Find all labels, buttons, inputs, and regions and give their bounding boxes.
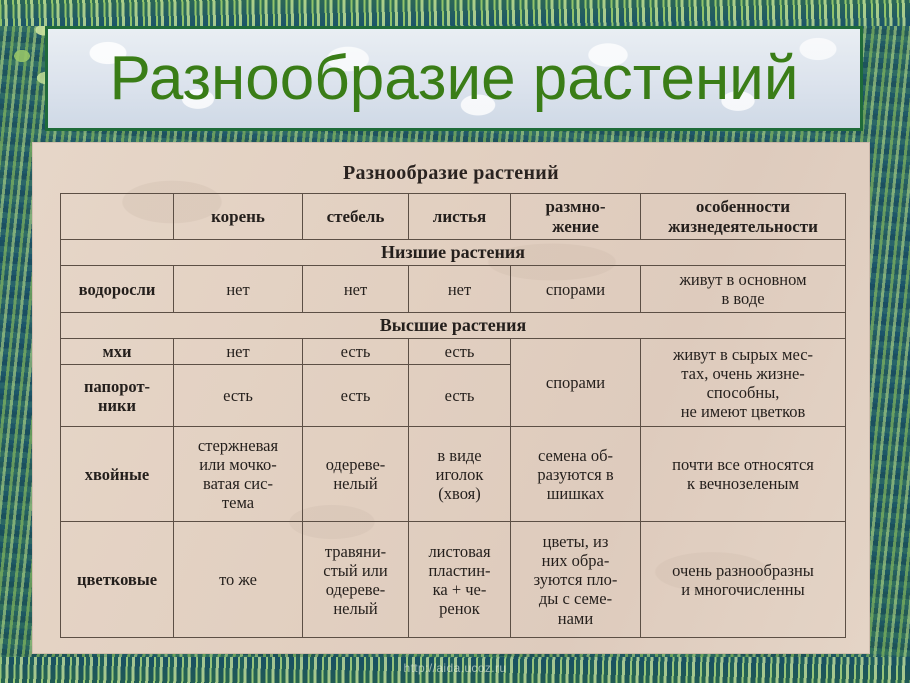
header-reproduction-line1: размно- <box>513 197 638 217</box>
flowering-stem-line3: одереве- <box>305 580 406 599</box>
conifers-leaves-line2: иголок <box>411 465 508 484</box>
cell-flowering-leaves: листовая пластин- ка + че- ренок <box>409 522 511 638</box>
cell-spore-group-features: живут в сырых мес- тах, очень жизне- спо… <box>641 339 846 427</box>
section-label-lower: Низшие растения <box>61 240 846 266</box>
flowering-repro-line2: них обра- <box>513 551 638 570</box>
row-label-conifers: хвойные <box>61 427 174 522</box>
algae-features-line2: в воде <box>643 289 843 308</box>
conifers-leaves-line3: (хвоя) <box>411 484 508 503</box>
table-section-row-lower: Низшие растения <box>61 240 846 266</box>
table-row-mosses: мхи нет есть есть спорами живут в сырых … <box>61 339 846 365</box>
spore-features-line1: живут в сырых мес- <box>643 345 843 364</box>
flowering-leaves-line4: ренок <box>411 599 508 618</box>
slide-title: Разнообразие растений <box>110 48 799 110</box>
table-row-algae: водоросли нет нет нет спорами живут в ос… <box>61 266 846 313</box>
plants-comparison-table: корень стебель листья размно- жение особ… <box>60 193 846 638</box>
cell-conifers-stem: одереве- нелый <box>303 427 409 522</box>
header-cell-leaves: листья <box>409 194 511 240</box>
flowering-leaves-line2: пластин- <box>411 561 508 580</box>
cell-conifers-features: почти все относятся к вечнозеленым <box>641 427 846 522</box>
conifers-root-line3: ватая сис- <box>176 474 300 493</box>
header-cell-stem: стебель <box>303 194 409 240</box>
row-label-ferns: папорот- ники <box>61 365 174 427</box>
cell-algae-reproduction: спорами <box>511 266 641 313</box>
section-label-higher: Высшие растения <box>61 313 846 339</box>
spore-features-line2: тах, очень жизне- <box>643 364 843 383</box>
conifers-root-line2: или мочко- <box>176 455 300 474</box>
table-row-flowering: цветковые то же травяни- стый или одерев… <box>61 522 846 638</box>
header-cell-blank <box>61 194 174 240</box>
cell-mosses-leaves: есть <box>409 339 511 365</box>
header-cell-features: особенности жизнедеятельности <box>641 194 846 240</box>
algae-features-line1: живут в основном <box>643 270 843 289</box>
cell-algae-root: нет <box>174 266 303 313</box>
conifers-stem-line1: одереве- <box>305 455 406 474</box>
cell-conifers-leaves: в виде иголок (хвоя) <box>409 427 511 522</box>
header-reproduction-line2: жение <box>513 217 638 237</box>
slide-root: Разнообразие растений ​ ​ Разнообразие р… <box>0 0 910 683</box>
cell-conifers-reproduction: семена об- разуются в шишках <box>511 427 641 522</box>
conifers-features-line2: к вечнозеленым <box>643 474 843 493</box>
flowering-features-line1: очень разнообразны <box>643 561 843 580</box>
cell-ferns-root: есть <box>174 365 303 427</box>
foliage-frame-top-band <box>0 0 910 26</box>
flowering-leaves-line3: ка + че- <box>411 580 508 599</box>
conifers-leaves-line1: в виде <box>411 446 508 465</box>
header-features-line2: жизнедеятельности <box>643 217 843 237</box>
flowering-repro-line3: зуются пло- <box>513 570 638 589</box>
table-section-row-higher: Высшие растения <box>61 313 846 339</box>
cell-flowering-features: очень разнообразны и многочисленны <box>641 522 846 638</box>
ferns-label-line2: ники <box>63 396 171 415</box>
table-caption: Разнообразие растений <box>60 162 842 185</box>
flowering-repro-line4: ды с семе- <box>513 589 638 608</box>
table-row-conifers: хвойные стержневая или мочко- ватая сис-… <box>61 427 846 522</box>
conifers-repro-line3: шишках <box>513 484 638 503</box>
spore-features-line3: способны, <box>643 383 843 402</box>
cell-ferns-leaves: есть <box>409 365 511 427</box>
header-cell-root: корень <box>174 194 303 240</box>
row-label-mosses: мхи <box>61 339 174 365</box>
flowering-stem-line1: травяни- <box>305 542 406 561</box>
header-features-line1: особенности <box>643 197 843 217</box>
flowering-leaves-line1: листовая <box>411 542 508 561</box>
cell-conifers-root: стержневая или мочко- ватая сис- тема <box>174 427 303 522</box>
flowering-repro-line5: нами <box>513 609 638 628</box>
conifers-features-line1: почти все относятся <box>643 455 843 474</box>
flowering-stem-line2: стый или <box>305 561 406 580</box>
title-banner: Разнообразие растений <box>45 26 863 131</box>
spore-features-line4: не имеют цветков <box>643 402 843 421</box>
conifers-repro-line2: разуются в <box>513 465 638 484</box>
cell-flowering-root: то же <box>174 522 303 638</box>
conifers-repro-line1: семена об- <box>513 446 638 465</box>
cell-algae-features: живут в основном в воде <box>641 266 846 313</box>
conifers-root-line4: тема <box>176 493 300 512</box>
table-header-row: корень стебель листья размно- жение особ… <box>61 194 846 240</box>
ferns-label-line1: папорот- <box>63 377 171 396</box>
cell-flowering-stem: травяни- стый или одереве- нелый <box>303 522 409 638</box>
conifers-root-line1: стержневая <box>176 436 300 455</box>
conifers-stem-line2: нелый <box>305 474 406 493</box>
header-cell-reproduction: размно- жение <box>511 194 641 240</box>
cell-mosses-root: нет <box>174 339 303 365</box>
cell-algae-stem: нет <box>303 266 409 313</box>
site-watermark: http://aida.ucoz.ru <box>0 661 910 675</box>
cell-mosses-stem: есть <box>303 339 409 365</box>
cell-ferns-stem: есть <box>303 365 409 427</box>
cell-algae-leaves: нет <box>409 266 511 313</box>
flowering-stem-line4: нелый <box>305 599 406 618</box>
row-label-flowering: цветковые <box>61 522 174 638</box>
flowering-repro-line1: цветы, из <box>513 532 638 551</box>
cell-flowering-reproduction: цветы, из них обра- зуются пло- ды с сем… <box>511 522 641 638</box>
cell-spore-group-reproduction: спорами <box>511 339 641 427</box>
flowering-features-line2: и многочисленны <box>643 580 843 599</box>
scanned-page-panel: ​ ​ Разнообразие растений корень стебель… <box>32 142 870 654</box>
row-label-algae: водоросли <box>61 266 174 313</box>
